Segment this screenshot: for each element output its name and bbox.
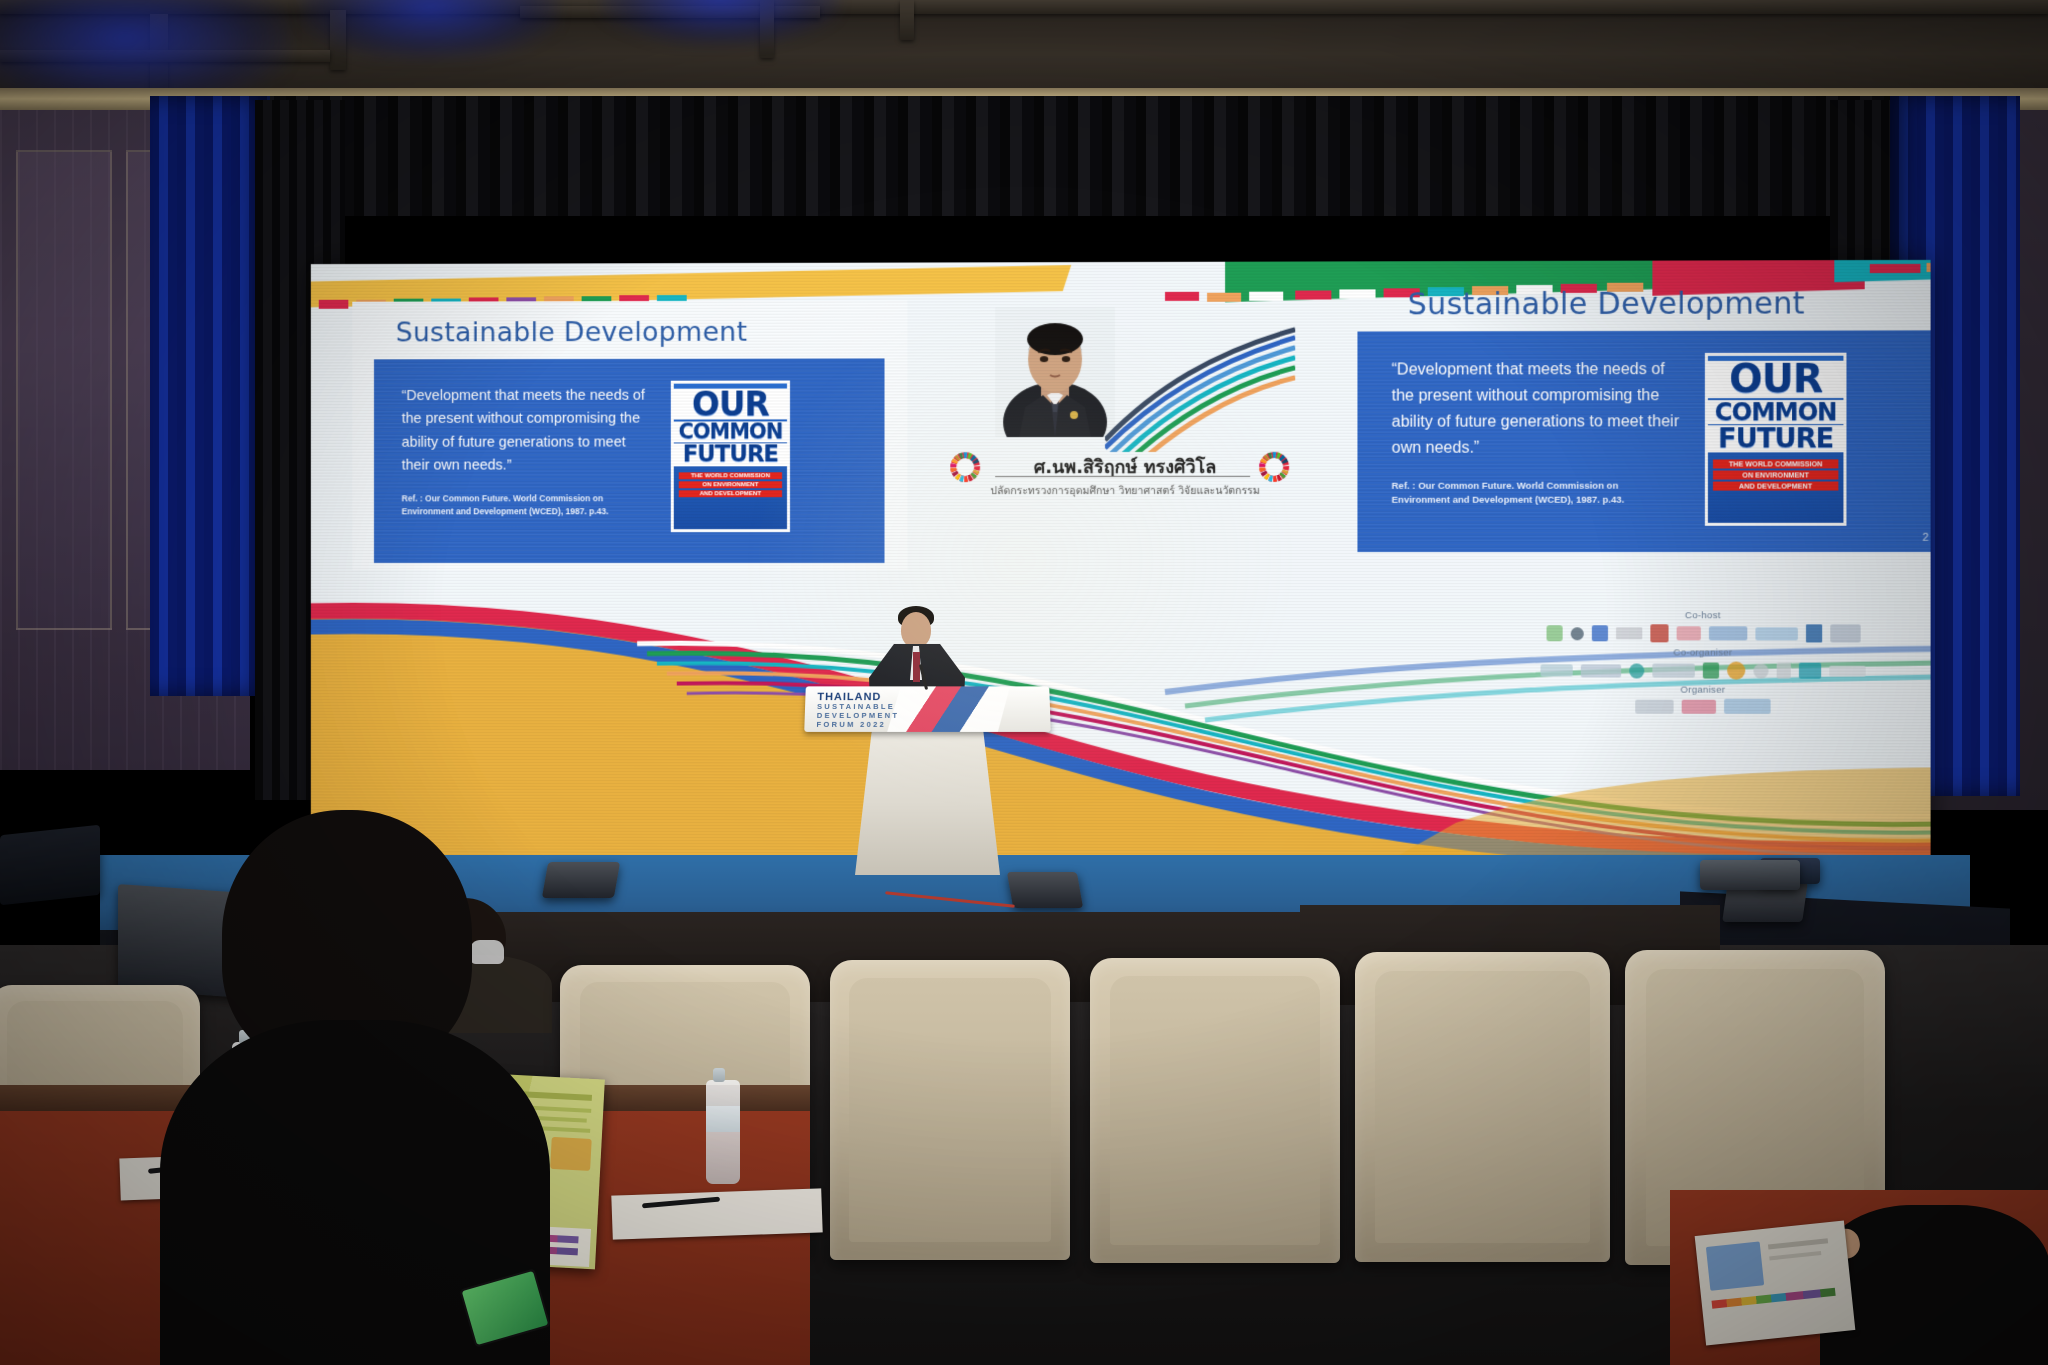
speaker-photo [995,307,1115,437]
logo-faint-text [1829,665,1865,676]
logo-circle-dark [1570,627,1583,640]
book-sub-line1: THE WORLD COMMISSION [1713,459,1838,468]
stage-curtain-top [150,96,1910,216]
ceiling-blue-light [600,0,840,45]
brochure-line [522,1091,592,1101]
logo-ihpp [1724,699,1770,714]
book-cover-inner: OUR COMMON FUTURE THE WORLD COMMISSION O… [674,384,787,530]
organiser-label: Organiser [1486,684,1920,696]
stage-monitor-icon [542,862,620,898]
book-sub-line3: AND DEVELOPMENT [1713,482,1838,491]
cohost-logo-row [1486,624,1920,642]
handout-line [1768,1238,1828,1249]
logo-qr-block [1805,624,1821,642]
podium-line-4: FORUM 2022 [816,721,967,730]
sdg-wheel-icon [948,450,982,484]
logo-world-bank [1830,624,1860,642]
blue-curtain-left [150,96,270,696]
logo-entec [1581,664,1621,677]
podium-lectern-front: THAILAND SUSTAINABLE DEVELOPMENT FORUM 2… [804,686,1051,732]
logo-grey-shield [1777,663,1791,679]
organiser-logo-row [1486,698,1920,714]
led-video-wall: Sustainable Development “Development tha… [311,260,1931,864]
left-quote-text: “Development that meets the needs of the… [402,385,649,479]
book-title-line1: OUR [674,388,787,419]
laptop-screen [1700,860,1800,890]
wall-panel [16,150,112,630]
conference-hall-scene: Sustainable Development “Development tha… [0,0,2048,1365]
logo-green-square [1703,663,1719,679]
ribbon-dash [1207,293,1241,302]
face-mask-icon [470,940,504,964]
cohost-label: Co-host [1486,610,1920,621]
logo-unicef [1755,627,1797,640]
ceiling-blue-light [300,0,560,60]
book-title-line3: FUTURE [1708,425,1844,452]
right-quote-text: “Development that meets the needs of the… [1392,357,1684,461]
brochure-thumb [550,1137,592,1171]
ribbon-dash [1295,290,1331,299]
logo-nstda [1652,663,1694,677]
logo-who [1708,626,1746,640]
logo-orange-seal [1727,662,1745,680]
logo-sdsn [1635,699,1673,713]
speaker-name-rule [995,476,1250,477]
ribbon-dash [319,300,349,309]
slide-number: 2 [1922,532,1928,544]
left-quote-reference: Ref. : Our Common Future. World Commissi… [402,492,649,518]
logo-figures [1591,625,1607,641]
ceiling-beam [900,0,914,40]
coorganiser-label: Co-organiser [1486,647,1920,658]
book-sub-line2: ON ENVIRONMENT [678,482,782,489]
left-slide-panel: Sustainable Development “Development tha… [352,300,907,570]
book-title-line1: OUR [1708,361,1844,398]
logo-teal-grid [1799,663,1821,679]
logo-eef [1540,664,1572,676]
podium-line-5: การประชุมวิชาการ [816,731,967,732]
logo-aaa [1676,626,1700,640]
ribbon-dash [1249,292,1283,301]
speaker-head [901,612,931,648]
right-slide-panel: Sustainable Development “Development tha… [1347,260,1930,546]
left-quote-box: “Development that meets the needs of the… [374,358,885,563]
right-book-cover: OUR COMMON FUTURE THE WORLD COMMISSION O… [1705,353,1847,526]
handout-line [1769,1251,1821,1260]
coorganiser-logo-row [1486,661,1920,680]
speaker-position: ปลัดกระทรวงการอุดมศึกษา วิทยาศาสตร์ วิจั… [905,482,1345,499]
handout-sdg-strip [1712,1288,1836,1309]
ribbon-notch [1058,262,1142,306]
water-bottle-icon [706,1080,740,1184]
handout-image [1706,1241,1764,1290]
podium-logo: THAILAND SUSTAINABLE DEVELOPMENT FORUM 2… [816,692,967,732]
speaker-card-swoosh [1105,322,1295,452]
book-title-line3: FUTURE [674,444,787,467]
sdg-wheel-icon [1257,450,1291,484]
sponsor-strip: Co-host Co-organiser [1486,610,1920,714]
book-sub-line2: ON ENVIRONMENT [1713,470,1838,479]
logo-red-seal [1650,624,1668,642]
book-sub-line1: THE WORLD COMMISSION [678,473,782,480]
right-quote-reference: Ref. : Our Common Future. World Commissi… [1392,480,1674,509]
speaker-portrait-illustration [995,307,1115,437]
camera-rig [0,825,100,906]
right-slide-title: Sustainable Development [1408,286,1805,322]
foreground-person-right [1820,1205,2048,1365]
left-book-cover: OUR COMMON FUTURE THE WORLD COMMISSION O… [671,381,790,533]
logo-green-box [1546,625,1562,641]
audience-chair [1355,952,1610,1262]
right-quote-box: “Development that meets the needs of the… [1357,330,1930,552]
logo-text-block [1616,627,1642,639]
bottle-label [706,1106,740,1132]
book-title-line2: COMMON [674,422,787,443]
left-slide-title: Sustainable Development [396,317,748,349]
audience-chair [1090,958,1340,1263]
book-sub-line3: AND DEVELOPMENT [678,491,782,498]
logo-swirl [1629,663,1644,678]
ribbon-dash [1165,292,1199,301]
logo-grey-circle [1753,663,1768,678]
book-cover-inner: OUR COMMON FUTURE THE WORLD COMMISSION O… [1708,356,1844,523]
stage-monitor-icon [1007,872,1083,908]
handout-document [1695,1220,1856,1345]
logo-red-circle [1682,699,1716,713]
audience-chair [830,960,1070,1260]
book-title-line2: COMMON [1708,400,1844,424]
